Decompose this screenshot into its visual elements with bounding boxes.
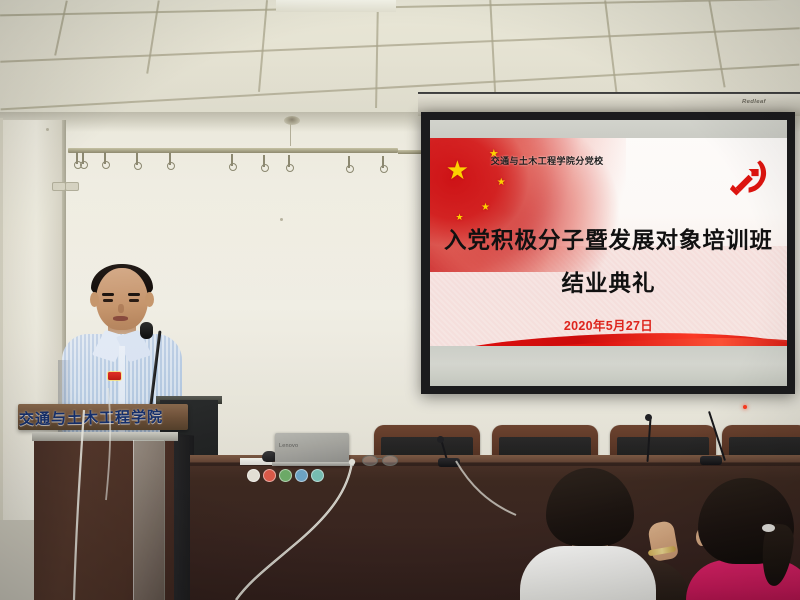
flag-star-small: ★ xyxy=(497,178,506,188)
speaker-mouth xyxy=(113,316,128,321)
speaker-eyebrow xyxy=(128,293,140,296)
slide-title-line-2: 结业典礼 xyxy=(430,266,787,298)
desk-microphone-capsule xyxy=(645,414,652,421)
ceiling-sprinkler-icon xyxy=(284,116,300,125)
rail-hook-icon xyxy=(104,152,106,164)
desk-microphone-capsule xyxy=(437,436,444,443)
rail-hook-icon xyxy=(169,153,171,165)
rail-hook-icon xyxy=(263,155,265,167)
wall-mark xyxy=(46,128,49,131)
sprinkler-stem xyxy=(290,124,291,146)
podium-microphone-head xyxy=(140,322,153,339)
slide-organization-header: 交通与土木工程学院分党校 xyxy=(491,154,604,167)
lecture-hall-photo: Redleaf ★ ★ ★ ★ ★ xyxy=(0,0,800,600)
wall-socket xyxy=(65,182,79,191)
speaker-eyebrow xyxy=(102,293,114,296)
flag-star-small: ★ xyxy=(481,203,490,213)
rail-hook-icon xyxy=(288,155,290,167)
projector-brand-label: Redleaf xyxy=(742,99,766,104)
rail-hook-icon xyxy=(82,152,84,164)
ceiling-light-panel xyxy=(276,0,396,12)
speaker-ear xyxy=(145,292,154,307)
rail-hook-icon xyxy=(136,153,138,165)
screen-blank-area-bottom xyxy=(430,346,787,386)
power-cable xyxy=(0,380,420,600)
presentation-slide: ★ ★ ★ ★ ★ 交通与土木工程学院分党校 入党积极分子暨发展对象培训班 xyxy=(430,138,787,362)
audience-member-white-shirt xyxy=(520,468,656,600)
wall-mark xyxy=(280,218,283,221)
rail-hook-icon xyxy=(76,152,78,164)
party-emblem-lapel-pin xyxy=(108,372,121,380)
speaker-eye xyxy=(129,299,139,302)
speaker-nose xyxy=(118,304,124,313)
wall-socket xyxy=(52,182,66,191)
screen-blank-area-top xyxy=(430,120,787,138)
microphone-status-led-icon xyxy=(743,405,747,409)
rail-hook-icon xyxy=(382,156,384,168)
audience-member-pink-shirt xyxy=(680,478,800,600)
screen-surface: ★ ★ ★ ★ ★ 交通与土木工程学院分党校 入党积极分子暨发展对象培训班 xyxy=(430,120,787,386)
flag-star-small: ★ xyxy=(456,213,464,222)
flag-star-large: ★ xyxy=(446,157,469,183)
rail-hook-icon xyxy=(348,156,350,168)
speaker-eye xyxy=(103,299,113,302)
cpc-hammer-sickle-emblem-icon xyxy=(727,156,773,202)
audience-shirt xyxy=(520,546,656,600)
audience-hair-tie xyxy=(762,524,775,532)
projection-screen: ★ ★ ★ ★ ★ 交通与土木工程学院分党校 入党积极分子暨发展对象培训班 xyxy=(421,112,795,394)
slide-title-line-1: 入党积极分子暨发展对象培训班 xyxy=(430,223,787,255)
wall-hanging-rail xyxy=(68,148,398,153)
speaker-ear xyxy=(90,292,99,307)
rail-hook-icon xyxy=(231,154,233,166)
audience-hair xyxy=(546,468,634,546)
slide-date: 2020年5月27日 xyxy=(430,315,787,334)
